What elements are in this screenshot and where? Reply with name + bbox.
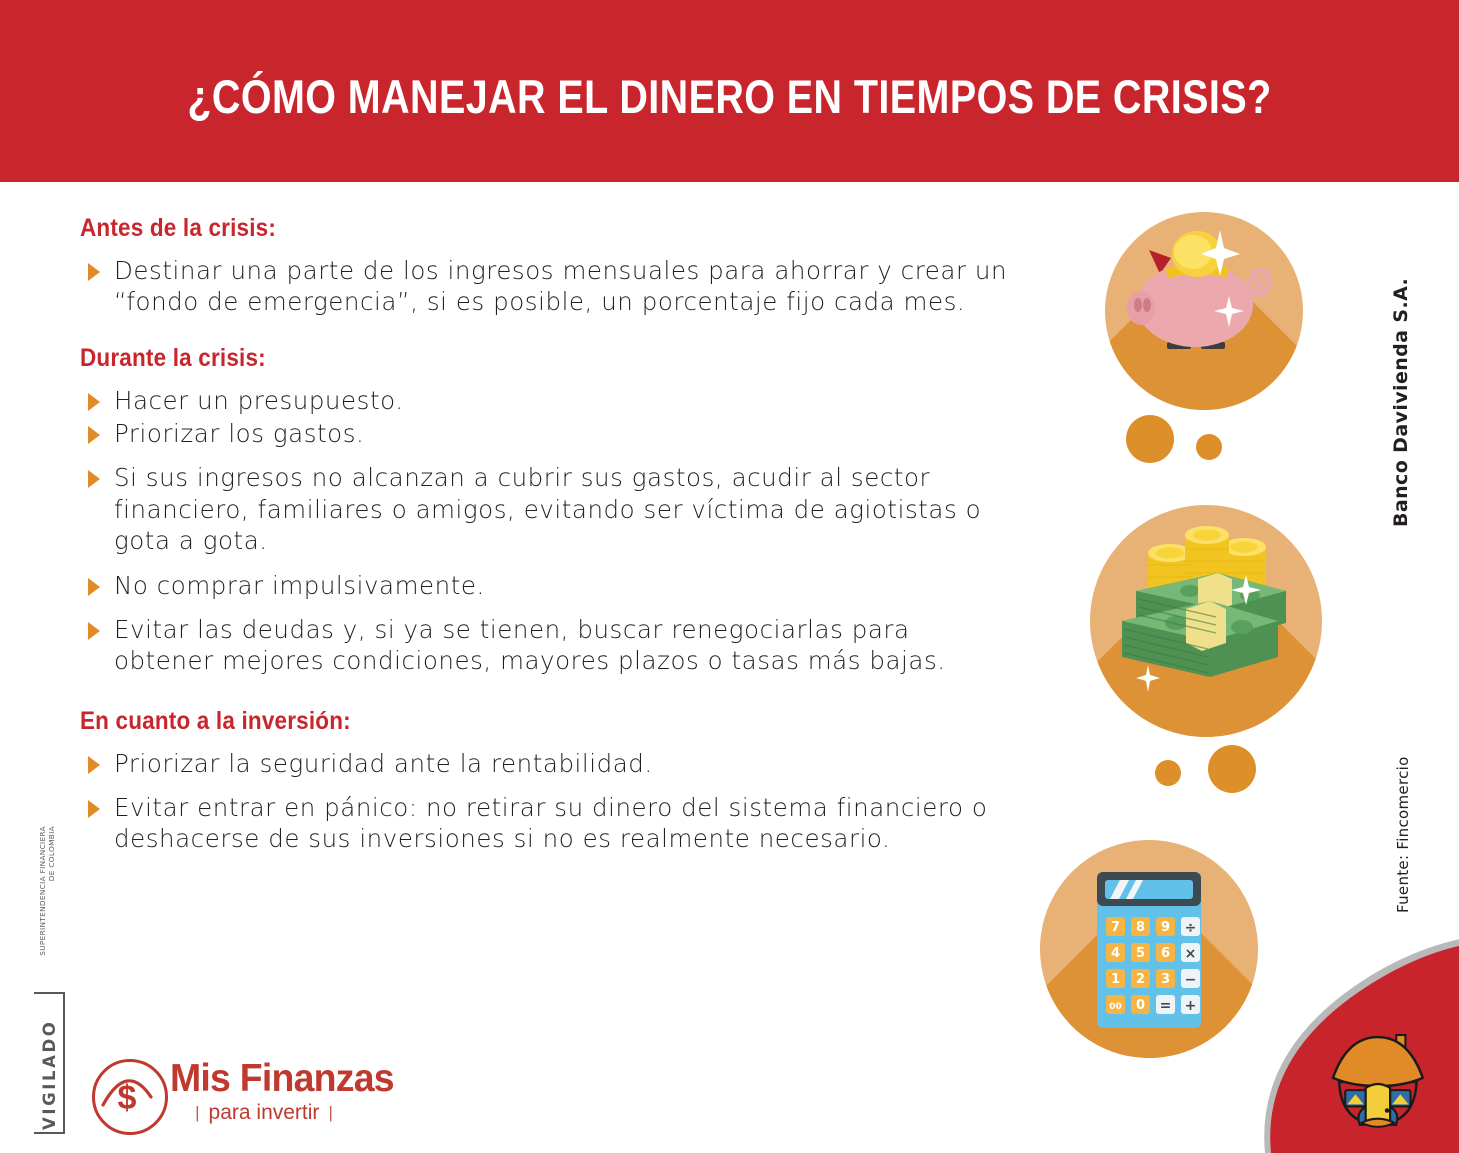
money-stack-icon <box>1090 505 1322 737</box>
supervisor-text: SUPERINTENDENCIA FINANCIERA DE COLOMBIA <box>38 826 56 986</box>
svg-text:÷: ÷ <box>1185 920 1197 936</box>
corner-badge <box>1225 925 1459 1153</box>
triangle-bullet-icon <box>88 622 100 640</box>
list-item-text: Evitar entrar en pánico: no retirar su d… <box>114 793 987 853</box>
logo-tagline: para invertir <box>209 1101 320 1125</box>
section-inversion: En cuanto a la inversión: Priorizar la s… <box>80 707 1010 855</box>
triangle-bullet-icon <box>88 393 100 411</box>
bank-label: Banco Davivienda S.A. <box>1390 278 1412 527</box>
svg-text:9: 9 <box>1161 920 1170 935</box>
bullet-list: Priorizar la seguridad ante la rentabili… <box>80 748 1010 855</box>
list-item-text: Destinar una parte de los ingresos mensu… <box>114 256 1007 316</box>
list-item-text: Si sus ingresos no alcanzan a cubrir sus… <box>114 463 981 555</box>
logo-tagline-row: | para invertir | <box>176 1101 352 1125</box>
triangle-bullet-icon <box>88 470 100 488</box>
triangle-bullet-icon <box>88 756 100 774</box>
vigilado-rule-bottom <box>34 1132 65 1134</box>
section-heading: Antes de la crisis: <box>80 214 917 243</box>
content-column: Antes de la crisis: Destinar una parte d… <box>80 214 1010 868</box>
svg-text:=: = <box>1160 998 1172 1014</box>
svg-text:7: 7 <box>1111 920 1120 935</box>
decorative-dot-large <box>1126 415 1174 463</box>
triangle-bullet-icon <box>88 800 100 818</box>
list-item: Destinar una parte de los ingresos mensu… <box>80 255 1010 318</box>
logo-dollar-icon: $ <box>92 1073 162 1123</box>
svg-text:+: + <box>1185 998 1197 1014</box>
infographic-page: ¿CÓMO MANEJAR EL DINERO EN TIEMPOS DE CR… <box>0 0 1459 1153</box>
decorative-dot-small <box>1196 434 1222 460</box>
list-item: Priorizar la seguridad ante la rentabili… <box>80 748 1010 779</box>
logo-wordmark: Mis Finanzas <box>170 1057 394 1101</box>
bullet-list: Destinar una parte de los ingresos mensu… <box>80 255 1010 318</box>
svg-text:00: 00 <box>1109 1002 1122 1012</box>
svg-text:2: 2 <box>1136 972 1145 987</box>
section-durante: Durante la crisis: Hacer un presupuesto.… <box>80 344 1010 677</box>
list-item-text: Priorizar los gastos. <box>114 419 364 448</box>
vigilado-rule-vertical <box>63 992 65 1134</box>
svg-text:−: − <box>1185 972 1197 988</box>
list-item-text: Hacer un presupuesto. <box>114 386 404 415</box>
list-item: Priorizar los gastos. <box>80 418 1010 449</box>
mis-finanzas-logo[interactable]: $ Mis Finanzas | para invertir | <box>92 1053 342 1139</box>
list-item: Evitar las deudas y, si ya se tienen, bu… <box>80 614 1010 677</box>
tagline-tick-right: | <box>328 1103 332 1123</box>
section-antes: Antes de la crisis: Destinar una parte d… <box>80 214 1010 318</box>
list-item: Hacer un presupuesto. <box>80 385 1010 416</box>
tagline-tick-left: | <box>195 1103 199 1123</box>
supervisor-line-1: SUPERINTENDENCIA FINANCIERA <box>38 826 47 986</box>
triangle-bullet-icon <box>88 263 100 281</box>
section-heading: Durante la crisis: <box>80 344 917 373</box>
svg-text:5: 5 <box>1136 946 1145 961</box>
svg-text:8: 8 <box>1136 920 1145 935</box>
triangle-bullet-icon <box>88 578 100 596</box>
list-item-text: Evitar las deudas y, si ya se tienen, bu… <box>114 615 946 675</box>
svg-text:6: 6 <box>1161 946 1170 961</box>
list-item: Si sus ingresos no alcanzan a cubrir sus… <box>80 462 1010 556</box>
svg-text:1: 1 <box>1111 972 1120 987</box>
list-item-text: Priorizar la seguridad ante la rentabili… <box>114 749 653 778</box>
svg-text:4: 4 <box>1111 946 1120 961</box>
list-item: Evitar entrar en pánico: no retirar su d… <box>80 792 1010 855</box>
triangle-bullet-icon <box>88 426 100 444</box>
supervisor-line-2: DE COLOMBIA <box>47 826 56 986</box>
section-heading: En cuanto a la inversión: <box>80 707 917 736</box>
list-item-text: No comprar impulsivamente. <box>114 571 485 600</box>
page-title: ¿CÓMO MANEJAR EL DINERO EN TIEMPOS DE CR… <box>117 0 1343 182</box>
vigilado-word: VIGILADO <box>40 1020 59 1130</box>
svg-text:×: × <box>1185 946 1197 962</box>
decorative-dot-small <box>1155 760 1181 786</box>
decorative-dot-large <box>1208 745 1256 793</box>
header-banner: ¿CÓMO MANEJAR EL DINERO EN TIEMPOS DE CR… <box>0 0 1459 182</box>
source-label: Fuente: Fincomercio <box>1394 756 1412 913</box>
svg-text:3: 3 <box>1161 972 1170 987</box>
svg-text:0: 0 <box>1136 998 1145 1013</box>
vigilado-block: SUPERINTENDENCIA FINANCIERA DE COLOMBIA … <box>16 890 72 1140</box>
list-item: No comprar impulsivamente. <box>80 570 1010 601</box>
bullet-list: Hacer un presupuesto. Priorizar los gast… <box>80 385 1010 677</box>
piggy-bank-icon <box>1105 212 1303 410</box>
vigilado-rule-top <box>34 992 65 994</box>
